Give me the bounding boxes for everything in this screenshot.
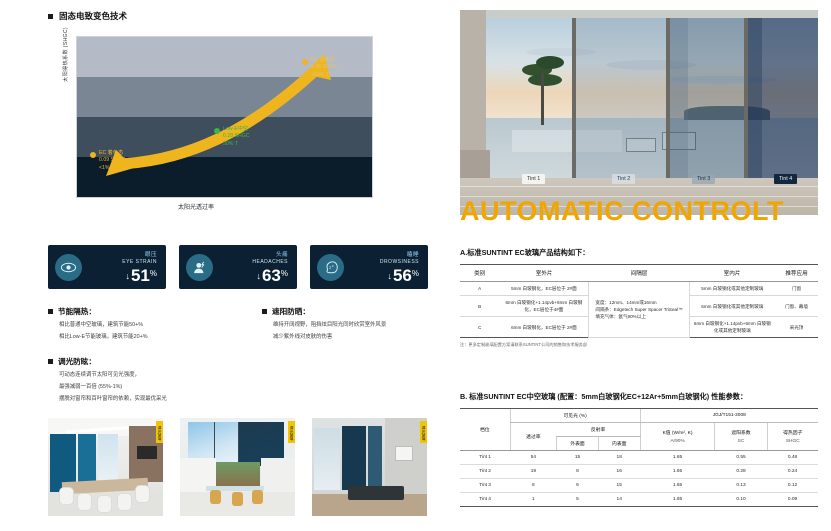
table-a-cell-application: 门窗、幕墙 bbox=[775, 296, 818, 317]
table-a-th-inner: 室内片 bbox=[689, 265, 775, 282]
table-b-th-reflectance: 反射率 bbox=[557, 423, 640, 437]
table-b-cell-outer: 15 bbox=[557, 451, 599, 465]
table-b-cell-sc: 0.10 bbox=[715, 493, 767, 507]
hero-overlay-title: AUTOMATIC CONTROLT bbox=[460, 196, 818, 226]
hero-tint-label-2: Tint 2 bbox=[612, 174, 635, 184]
chart-label-clear-shgc: 0.46 SHGC bbox=[311, 64, 338, 71]
table-b-cell-level: Tint 2 bbox=[460, 465, 510, 479]
chart-label-lowe-shgc: 0.28 SHGC bbox=[223, 133, 250, 140]
eye-icon bbox=[55, 254, 82, 281]
table-b-cell-level: Tint 1 bbox=[460, 451, 510, 465]
table-b-cell-outer: 5 bbox=[557, 493, 599, 507]
table-b-cell-inner: 15 bbox=[598, 479, 640, 493]
hero-palm-leaf bbox=[536, 56, 564, 69]
stat-text-drowsiness: 瞌睡 DROWSINESS ↓56% bbox=[344, 250, 421, 284]
stat-number-headaches: 63 bbox=[262, 266, 281, 285]
feature-block-shading: 遮阳防晒： 维持开阔视野，阻挡炫目阳光同时欣赏室外风景 减少紫外线对皮肤的伤害 bbox=[262, 306, 442, 341]
photo2-chair bbox=[252, 490, 263, 504]
table-b-cell-outer: 6 bbox=[557, 479, 599, 493]
table-b-header-sub-row: 透过率 反射率 K值 (W/m², K) Ar90% 遮阳系数 SC 得热因子 bbox=[460, 423, 818, 437]
table-b-cell-trans: 54 bbox=[510, 451, 557, 465]
feature-title-shading: 遮阳防晒： bbox=[262, 306, 442, 317]
stat-unit-drowsiness: % bbox=[412, 269, 419, 278]
feature-line-shading-1: 维持开阔视野，阻挡炫目阳光同时欣赏室外风景 bbox=[273, 321, 442, 329]
table-b-th-kvalue-main: K值 (W/m², K) bbox=[643, 429, 713, 436]
stat-arrow-eye-strain: ↓ bbox=[125, 271, 130, 281]
table-a: 类别 室外片 间隔层 室内片 推荐应用 A 5mm 白玻钢化，EC层位于 2#面… bbox=[460, 264, 818, 338]
table-a-cell-inner: 6mm 白玻钢化+1.14pvb+6mm 白玻钢化或其他定制玻璃 bbox=[689, 317, 775, 338]
feature-block-insulation: 节能隔热： 相比普通中空玻璃，建筑节能50+% 相比Low-E节能玻璃，建筑节能… bbox=[48, 306, 248, 341]
table-a-th-category: 类别 bbox=[460, 265, 499, 282]
chart-label-lowe: Low-E中空 0.28 SHGC 30% T bbox=[223, 126, 250, 148]
chart-y-axis-label: 太阳得热系数 (SHGC) bbox=[62, 27, 69, 82]
performance-parameters-section: B. 标准SUNTINT EC中空玻璃 (配置：5mm白玻钢化EC+12Ar+5… bbox=[460, 392, 818, 507]
stat-value-drowsiness: ↓56% bbox=[344, 266, 419, 284]
table-b-cell-inner: 18 bbox=[598, 451, 640, 465]
chart-point-tinted bbox=[90, 152, 96, 158]
table-b-th-level: 档位 bbox=[460, 409, 510, 451]
hero-tint-label-4: Tint 4 bbox=[774, 174, 797, 184]
table-b-cell-level: Tint 3 bbox=[460, 479, 510, 493]
table-b-cell-shgc: 0.09 bbox=[767, 493, 818, 507]
photo2-chair bbox=[232, 492, 243, 506]
chart-label-tinted-title: EC 着色态 bbox=[99, 150, 126, 157]
table-b-cell-inner: 14 bbox=[598, 493, 640, 507]
table-row: A 5mm 白玻钢化，EC层位于 2#面 宽度：12mm、14mm或16mm 间… bbox=[460, 282, 818, 296]
table-a-cell-inner: 6mm 白玻钢化或其他定制玻璃 bbox=[689, 296, 775, 317]
stat-number-eye-strain: 51 bbox=[131, 266, 150, 285]
stat-zh-headaches: 头痛 bbox=[213, 250, 288, 258]
chart-heading: 固态电致变色技术 bbox=[48, 10, 127, 22]
table-a-cell-category: B bbox=[460, 296, 499, 317]
bullet-square-icon bbox=[262, 309, 267, 314]
bullet-square-icon bbox=[48, 309, 53, 314]
brochure-page: 固态电致变色技术 太阳得热系数 (SHGC) EC 透明态 0.46 SHGC … bbox=[0, 0, 831, 531]
table-b-th-group-visible: 可见光 (%) bbox=[510, 409, 640, 423]
table-b-cell-trans: 1 bbox=[510, 493, 557, 507]
hero-pane-tint4 bbox=[748, 18, 818, 178]
chart-point-lowe bbox=[214, 128, 220, 134]
stat-value-headaches: ↓63% bbox=[213, 266, 288, 284]
table-b-th-shgc-sub: SHGC bbox=[770, 439, 816, 444]
photo1-chair bbox=[136, 486, 149, 502]
feature-block-dimming: 调光防眩： 可动态连续调节太阳可见光强度， 最强减弱一百倍 (55%-1%) 摆… bbox=[48, 356, 258, 403]
table-a-title: A.标准SUNTINT EC玻璃产品结构如下： bbox=[460, 248, 818, 258]
table-b-th-shgc: 得热因子 SHGC bbox=[767, 423, 818, 451]
table-a-th-outer: 室外片 bbox=[499, 265, 589, 282]
feature-title-insulation: 节能隔热： bbox=[48, 306, 248, 317]
stat-unit-headaches: % bbox=[281, 269, 288, 278]
feature-title-text-shading: 遮阳防晒： bbox=[272, 306, 310, 317]
table-b: 档位 可见光 (%) JGJ/T151-2008 透过率 反射率 K值 (W/m… bbox=[460, 408, 818, 507]
table-b-th-group-standard: JGJ/T151-2008 bbox=[640, 409, 818, 423]
photo-lounge: 调光玻璃 bbox=[312, 418, 427, 516]
drowsiness-icon: zz bbox=[317, 254, 344, 281]
table-b-cell-sc: 0.55 bbox=[715, 451, 767, 465]
table-b-cell-k: 1.65 bbox=[640, 451, 715, 465]
table-a-cell-outer: 5mm 白玻钢化，EC层位于 2#面 bbox=[499, 282, 589, 296]
chart-heading-text: 固态电致变色技术 bbox=[59, 10, 127, 22]
stat-en-drowsiness: DROWSINESS bbox=[344, 259, 419, 265]
table-a-spacer-line-1: 宽度：12mm、14mm或16mm bbox=[595, 299, 686, 306]
stat-card-headaches: 头痛 HEADACHES ↓63% bbox=[179, 245, 297, 289]
table-a-cell-outer: 6mm 白玻钢化+1.14pvb+6mm 白玻钢化，EC层位于4#面 bbox=[499, 296, 589, 317]
table-b-cell-k: 1.65 bbox=[640, 479, 715, 493]
bullet-square-icon bbox=[48, 14, 53, 19]
stat-card-eye-strain: 眼压 EYE STRAIN ↓51% bbox=[48, 245, 166, 289]
svg-text:z: z bbox=[332, 263, 334, 267]
table-b-th-shgc-main: 得热因子 bbox=[770, 429, 816, 436]
photo-meeting-room: 调光玻璃 bbox=[48, 418, 163, 516]
table-a-cell-application: 采光顶 bbox=[775, 317, 818, 338]
table-b-th-sc-main: 遮阳系数 bbox=[717, 429, 764, 436]
table-a-cell-outer: 6mm 白玻钢化，EC层位于 2#面 bbox=[499, 317, 589, 338]
table-b-cell-trans: 19 bbox=[510, 465, 557, 479]
photo1-tab-label: 调光玻璃 bbox=[156, 421, 163, 443]
photo3-artwork bbox=[395, 446, 413, 461]
feature-line-dimming-3: 摆脱对窗帘和百叶窗帘的依赖，实现最优采光 bbox=[59, 395, 258, 403]
bullet-square-icon bbox=[48, 359, 53, 364]
svg-text:z: z bbox=[329, 264, 331, 269]
feature-title-text-insulation: 节能隔热： bbox=[58, 306, 96, 317]
interior-photo-row: 调光玻璃 调光玻璃 bbox=[48, 418, 427, 516]
chart-label-tinted-shgc: 0.09 SHGC bbox=[99, 157, 126, 164]
hero-mullion bbox=[666, 18, 670, 178]
table-b-cell-shgc: 0.12 bbox=[767, 479, 818, 493]
table-a-spacer-line-2: 间隔条：Edgetech Super Spacer TriSeal™ bbox=[595, 306, 686, 313]
hero-mullion bbox=[572, 18, 576, 178]
table-a-cell-spacer: 宽度：12mm、14mm或16mm 间隔条：Edgetech Super Spa… bbox=[589, 282, 689, 338]
table-row: Tint 2 19 8 16 1.65 0.28 0.24 bbox=[460, 465, 818, 479]
table-b-cell-level: Tint 4 bbox=[460, 493, 510, 507]
product-structure-section: A.标准SUNTINT EC玻璃产品结构如下： 类别 室外片 间隔层 室内片 推… bbox=[460, 248, 818, 348]
right-column: Tint 1 Tint 2 Tint 3 Tint 4 AUTOMATIC CO… bbox=[448, 0, 831, 531]
table-b-th-sc: 遮阳系数 SC bbox=[715, 423, 767, 451]
hero-palm-leaf bbox=[528, 74, 562, 86]
stat-zh-drowsiness: 瞌睡 bbox=[344, 250, 419, 258]
feature-line-dimming-2: 最强减弱一百倍 (55%-1%) bbox=[59, 383, 258, 391]
table-b-th-outer-surface: 外表面 bbox=[557, 437, 599, 451]
hero-palm-trunk bbox=[541, 73, 544, 125]
table-b-cell-k: 1.65 bbox=[640, 465, 715, 479]
table-b-th-kvalue: K值 (W/m², K) Ar90% bbox=[640, 423, 715, 451]
chart-label-clear-tvis: +60% T bbox=[311, 72, 338, 79]
stat-text-eye-strain: 眼压 EYE STRAIN ↓51% bbox=[82, 250, 159, 284]
table-row: Tint 1 54 15 18 1.65 0.55 0.48 bbox=[460, 451, 818, 465]
stat-text-headaches: 头痛 HEADACHES ↓63% bbox=[213, 250, 290, 284]
stat-zh-eye-strain: 眼压 bbox=[82, 250, 157, 258]
table-b-cell-outer: 8 bbox=[557, 465, 599, 479]
feature-line-shading-2: 减少紫外线对皮肤的伤害 bbox=[273, 333, 442, 341]
table-b-cell-shgc: 0.24 bbox=[767, 465, 818, 479]
table-a-cell-application: 门窗 bbox=[775, 282, 818, 296]
stat-card-drowsiness: zz 瞌睡 DROWSINESS ↓56% bbox=[310, 245, 428, 289]
hero-image-tinting-panels: Tint 1 Tint 2 Tint 3 Tint 4 bbox=[460, 10, 818, 215]
table-b-cell-trans: 8 bbox=[510, 479, 557, 493]
chart-label-lowe-tvis: 30% T bbox=[223, 141, 250, 148]
health-stats-row: 眼压 EYE STRAIN ↓51% 头痛 HEADACHES ↓63% zz bbox=[48, 245, 428, 289]
hero-floor-line bbox=[460, 186, 818, 187]
stat-value-eye-strain: ↓51% bbox=[82, 266, 157, 284]
table-row: Tint 3 8 6 15 1.65 0.13 0.12 bbox=[460, 479, 818, 493]
table-a-note: 注：更多定制玻璃配置方案请联系SUNTINT公司的销售和技术服务部 bbox=[460, 342, 818, 348]
stat-en-headaches: HEADACHES bbox=[213, 259, 288, 265]
photo-skylight: 调光玻璃 bbox=[180, 418, 295, 516]
chart-label-clear-title: EC 透明态 bbox=[311, 57, 338, 64]
stat-arrow-headaches: ↓ bbox=[256, 271, 261, 281]
table-b-th-transmittance: 透过率 bbox=[510, 423, 557, 451]
photo3-sofa bbox=[348, 486, 404, 500]
photo3-tab-label: 调光玻璃 bbox=[420, 421, 427, 443]
photo1-chair bbox=[98, 496, 111, 512]
photo2-chair bbox=[210, 490, 221, 504]
stat-en-eye-strain: EYE STRAIN bbox=[82, 259, 157, 265]
photo2-tab-label: 调光玻璃 bbox=[288, 421, 295, 443]
chart-point-clear bbox=[302, 59, 308, 65]
photo1-chair bbox=[60, 488, 73, 504]
hero-tint-label-3: Tint 3 bbox=[692, 174, 715, 184]
photo3-glass-1 bbox=[314, 428, 340, 490]
feature-title-dimming: 调光防眩： bbox=[48, 356, 258, 367]
table-b-th-kvalue-sub: Ar90% bbox=[643, 439, 713, 444]
table-a-spacer-line-3: 填充气体：氩气90%以上 bbox=[595, 313, 686, 320]
stat-unit-eye-strain: % bbox=[150, 269, 157, 278]
table-b-cell-k: 1.65 bbox=[640, 493, 715, 507]
headache-icon bbox=[186, 254, 213, 281]
table-b-th-inner-surface: 内表面 bbox=[598, 437, 640, 451]
table-a-th-application: 推荐应用 bbox=[775, 265, 818, 282]
feature-line-insulation-2: 相比Low-E节能玻璃，建筑节能20+% bbox=[59, 333, 248, 341]
hero-mullion bbox=[744, 18, 748, 178]
photo1-chair bbox=[78, 494, 91, 510]
stat-arrow-drowsiness: ↓ bbox=[387, 271, 392, 281]
table-a-cell-inner: 5mm 白玻钢化或其他定制玻璃 bbox=[689, 282, 775, 296]
feature-title-text-dimming: 调光防眩： bbox=[58, 356, 96, 367]
table-a-cell-category: C bbox=[460, 317, 499, 338]
photo3-glass-2 bbox=[342, 426, 366, 490]
table-a-header-row: 类别 室外片 间隔层 室内片 推荐应用 bbox=[460, 265, 818, 282]
table-b-cell-sc: 0.28 bbox=[715, 465, 767, 479]
chart-label-tinted: EC 着色态 0.09 SHGC <1% T bbox=[99, 150, 126, 172]
chart-label-clear: EC 透明态 0.46 SHGC +60% T bbox=[311, 57, 338, 79]
table-b-cell-inner: 16 bbox=[598, 465, 640, 479]
hero-sill bbox=[460, 150, 490, 178]
photo1-chair bbox=[118, 494, 131, 510]
chart-label-tinted-tvis: <1% T bbox=[99, 165, 126, 172]
left-column: 固态电致变色技术 太阳得热系数 (SHGC) EC 透明态 0.46 SHGC … bbox=[0, 0, 448, 531]
chart-label-lowe-title: Low-E中空 bbox=[223, 126, 250, 133]
photo3-glass-3 bbox=[368, 426, 382, 488]
table-a-cell-category: A bbox=[460, 282, 499, 296]
feature-line-insulation-1: 相比普通中空玻璃，建筑节能50+% bbox=[59, 321, 248, 329]
feature-line-dimming-1: 可动态连续调节太阳可见光强度， bbox=[59, 371, 258, 379]
table-a-th-spacer: 间隔层 bbox=[589, 265, 689, 282]
chart-x-axis-label: 太阳光透过率 bbox=[178, 202, 214, 211]
table-b-cell-sc: 0.13 bbox=[715, 479, 767, 493]
table-row: Tint 4 1 5 14 1.65 0.10 0.09 bbox=[460, 493, 818, 507]
photo1-screen bbox=[137, 446, 157, 459]
stat-number-drowsiness: 56 bbox=[393, 266, 412, 285]
table-b-cell-shgc: 0.48 bbox=[767, 451, 818, 465]
table-b-th-sc-sub: SC bbox=[717, 439, 764, 444]
table-b-header-group-row: 档位 可见光 (%) JGJ/T151-2008 bbox=[460, 409, 818, 423]
table-b-title: B. 标准SUNTINT EC中空玻璃 (配置：5mm白玻钢化EC+12Ar+5… bbox=[460, 392, 818, 402]
hero-tint-label-1: Tint 1 bbox=[522, 174, 545, 184]
